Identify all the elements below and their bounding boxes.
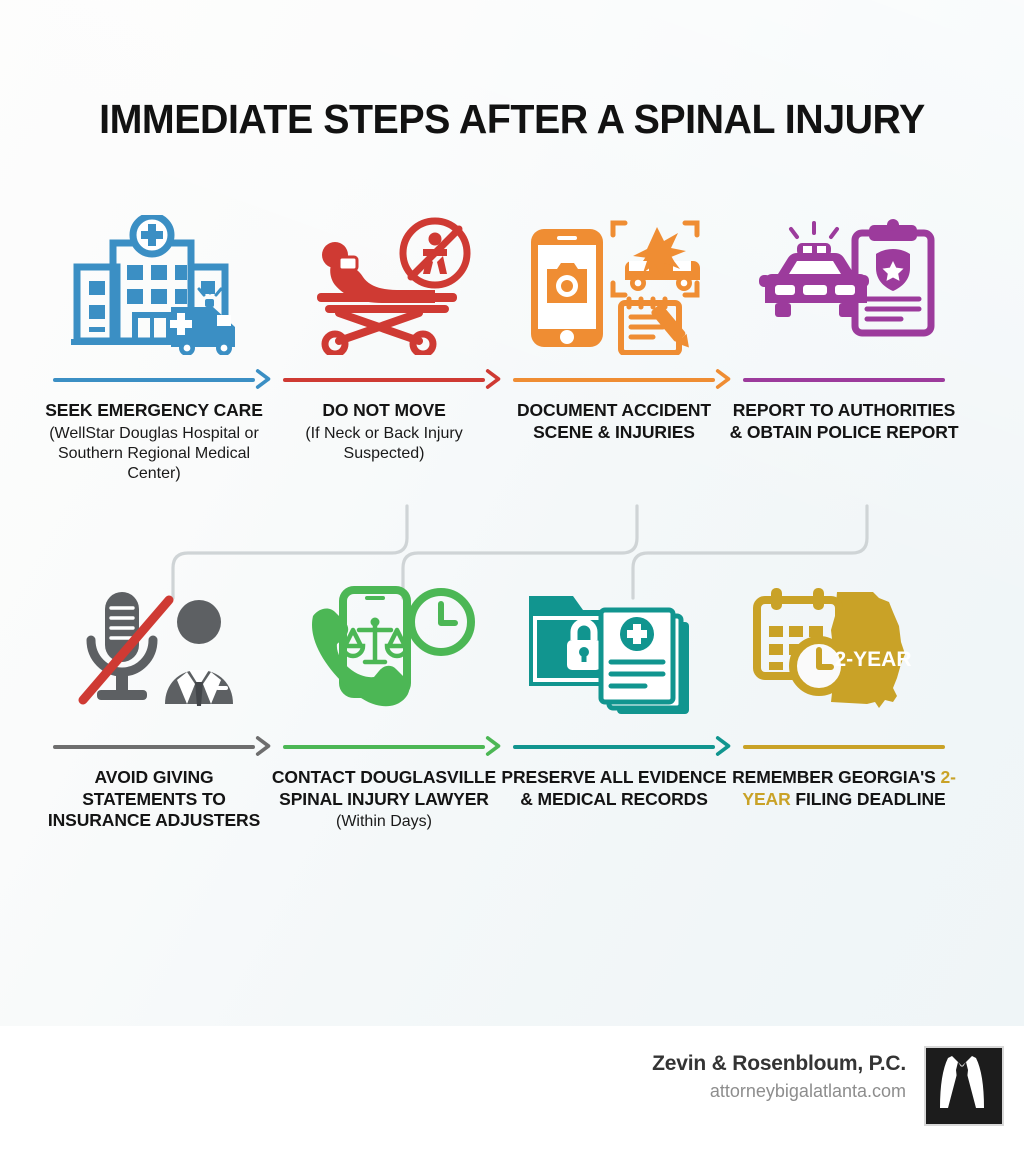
step-5-label: AVOID GIVING STATEMENTS TO INSURANCE ADJ… [39,767,269,832]
infographic-root: IMMEDIATE STEPS AFTER A SPINAL INJURY [0,0,1024,1154]
step-3[interactable]: DOCUMENT ACCIDENT SCENE & INJURIES [499,205,729,445]
calendar-clock-georgia-map-icon: 2-YEAR [729,572,959,722]
phone-scales-clock-icon [269,572,499,722]
map-badge-text: 2-YEAR [834,648,911,671]
stretcher-do-not-move-icon [269,205,499,355]
suit-and-tie-logo [924,1046,1004,1126]
step-2-arrow [269,369,499,391]
step-7-arrow [499,736,729,758]
firm-name: Zevin & Rosenbloum, P.C. [652,1052,906,1076]
step-8-line [729,736,959,758]
step-5-arrow [39,736,269,758]
step-3-arrow [499,369,729,391]
police-car-report-icon [729,205,959,355]
step-6-label: CONTACT DOUGLASVILLE SPINAL INJURY LAWYE… [269,767,499,810]
step-2-label: DO NOT MOVE [269,400,499,422]
step-6[interactable]: CONTACT DOUGLASVILLE SPINAL INJURY LAWYE… [269,572,499,832]
step-2-sub: (If Neck or Back Injury Suspected) [269,424,499,464]
step-8-label: REMEMBER GEORGIA'S 2-YEAR FILING DEADLIN… [729,767,959,810]
step-6-arrow [269,736,499,758]
footer: Zevin & Rosenbloum, P.C. attorneybigalat… [0,1026,1024,1154]
step-4-label: REPORT TO AUTHORITIES & OBTAIN POLICE RE… [729,400,959,443]
step-1[interactable]: SEEK EMERGENCY CARE (WellStar Douglas Ho… [39,205,269,484]
firm-website[interactable]: attorneybigalatlanta.com [710,1081,906,1102]
step-5[interactable]: AVOID GIVING STATEMENTS TO INSURANCE ADJ… [39,572,269,834]
no-statement-microphone-adjuster-icon [39,572,269,722]
step-7-label: PRESERVE ALL EVIDENCE & MEDICAL RECORDS [499,767,729,810]
step-8[interactable]: 2-YEAR REMEMBER GEORGIA'S 2-YEAR FILING … [729,572,959,810]
step-1-arrow [39,369,269,391]
step-4-line [729,369,959,391]
step-1-label: SEEK EMERGENCY CARE [39,400,269,422]
step-2[interactable]: DO NOT MOVE (If Neck or Back Injury Susp… [269,205,499,464]
page-title: IMMEDIATE STEPS AFTER A SPINAL INJURY [20,96,1003,143]
locked-folder-medical-records-icon [499,572,729,722]
phone-camera-crash-notepad-icon [499,205,729,355]
step-6-sub: (Within Days) [269,812,499,832]
step-3-label: DOCUMENT ACCIDENT SCENE & INJURIES [499,400,729,443]
hospital-ambulance-icon [39,205,269,355]
step-4[interactable]: REPORT TO AUTHORITIES & OBTAIN POLICE RE… [729,205,959,445]
step-1-sub: (WellStar Douglas Hospital or Southern R… [39,424,269,484]
step-7[interactable]: PRESERVE ALL EVIDENCE & MEDICAL RECORDS [499,572,729,812]
step-8-label-part3: FILING DEADLINE [791,789,946,809]
step-8-label-part1: REMEMBER GEORGIA'S [732,767,940,787]
